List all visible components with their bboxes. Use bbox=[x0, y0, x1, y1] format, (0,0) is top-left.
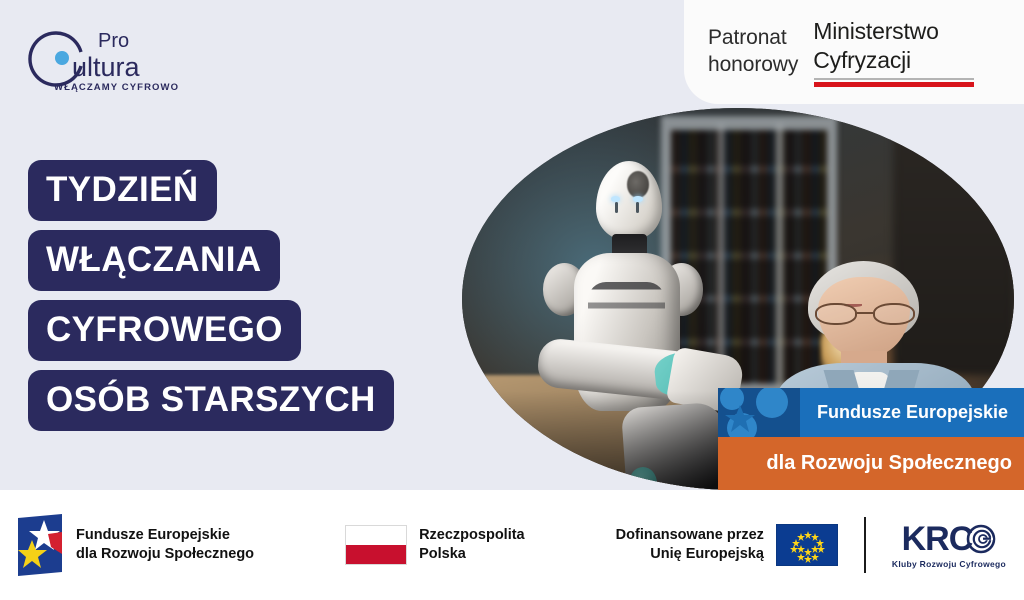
svg-text:ultura: ultura bbox=[72, 52, 141, 82]
fundusze-europejskie-badge: Fundusze Europejskie dla Rozwoju Społecz… bbox=[718, 388, 1024, 490]
headline-line-1: TYDZIEŃ bbox=[28, 160, 217, 221]
glasses-bridge bbox=[857, 312, 873, 314]
headline-block: TYDZIEŃ WŁĄCZANIA CYFROWEGO OSÓB STARSZY… bbox=[28, 160, 394, 431]
footer-item-krc: KRC Kluby Rozwoju Cyfrowego bbox=[892, 522, 1006, 569]
fundusze-europejskie-logo-icon bbox=[18, 514, 64, 576]
fe-badge-orange-label: dla Rozwoju Społecznego bbox=[766, 452, 1012, 475]
krc-logo-text: KRC bbox=[902, 522, 973, 556]
footer-item-rzeczpospolita-polska: Rzeczpospolita Polska bbox=[345, 525, 525, 565]
ministry-logo: Ministerstwo Cyfryzacji bbox=[813, 17, 938, 86]
robot-visor bbox=[627, 171, 649, 198]
glasses-lens-left bbox=[815, 303, 857, 324]
footer-bar: Fundusze Europejskie dla Rozwoju Społecz… bbox=[0, 490, 1024, 600]
footer-label-fundusze-europejskie: Fundusze Europejskie dla Rozwoju Społecz… bbox=[76, 526, 254, 564]
svg-text:WŁĄCZAMY CYFROWO: WŁĄCZAMY CYFROWO bbox=[54, 82, 179, 93]
headline-line-2: WŁĄCZANIA bbox=[28, 230, 280, 291]
headline-line-3: CYFROWEGO bbox=[28, 300, 301, 361]
pro-cultura-logo[interactable]: Pro ultura WŁĄCZAMY CYFROWO Pro Cultura … bbox=[26, 22, 196, 94]
fe-badge-blue-band: Fundusze Europejskie bbox=[718, 388, 1024, 437]
poland-flag-red-stripe bbox=[346, 545, 406, 564]
poland-flag-white-stripe bbox=[346, 526, 406, 545]
svg-text:Pro: Pro bbox=[98, 30, 129, 52]
robot-head bbox=[596, 161, 662, 240]
footer-item-fundusze-europejskie: Fundusze Europejskie dla Rozwoju Społecz… bbox=[18, 514, 254, 576]
fe-badge-blue-label: Fundusze Europejskie bbox=[817, 402, 1008, 423]
robot-eye-left bbox=[611, 196, 620, 202]
footer-label-dofinansowane-ue: Dofinansowane przez Unię Europejską bbox=[616, 526, 764, 564]
footer-item-dofinansowane-ue: Dofinansowane przez Unię Europejską bbox=[616, 524, 838, 566]
robot-cheek-left bbox=[615, 202, 618, 213]
ministry-label: Ministerstwo Cyfryzacji bbox=[813, 17, 938, 74]
eu-flag-icon bbox=[776, 524, 838, 566]
poster-canvas: Pro ultura WŁĄCZAMY CYFROWO Pro Cultura … bbox=[0, 0, 1024, 600]
robot-eye-right bbox=[633, 196, 642, 202]
poland-flag-icon bbox=[345, 525, 407, 565]
glasses-lens-right bbox=[873, 303, 915, 324]
patronage-label: Patronat honorowy bbox=[708, 25, 798, 78]
ministry-rule-red bbox=[814, 82, 974, 87]
krc-logo-icon: KRC bbox=[902, 522, 997, 556]
fe-badge-stars-icon bbox=[718, 388, 800, 437]
robot-cheek-right bbox=[636, 202, 639, 213]
footer-divider bbox=[864, 517, 866, 573]
headline-line-4: OSÓB STARSZYCH bbox=[28, 370, 394, 431]
patronage-card: Patronat honorowy Ministerstwo Cyfryzacj… bbox=[684, 0, 1024, 104]
krc-logo-subtitle: Kluby Rozwoju Cyfrowego bbox=[892, 559, 1006, 569]
ministry-rule-gray bbox=[814, 78, 974, 80]
footer-label-rzeczpospolita-polska: Rzeczpospolita Polska bbox=[419, 526, 525, 564]
fe-badge-orange-band: dla Rozwoju Społecznego bbox=[718, 437, 1024, 490]
woman-glasses bbox=[815, 303, 915, 324]
